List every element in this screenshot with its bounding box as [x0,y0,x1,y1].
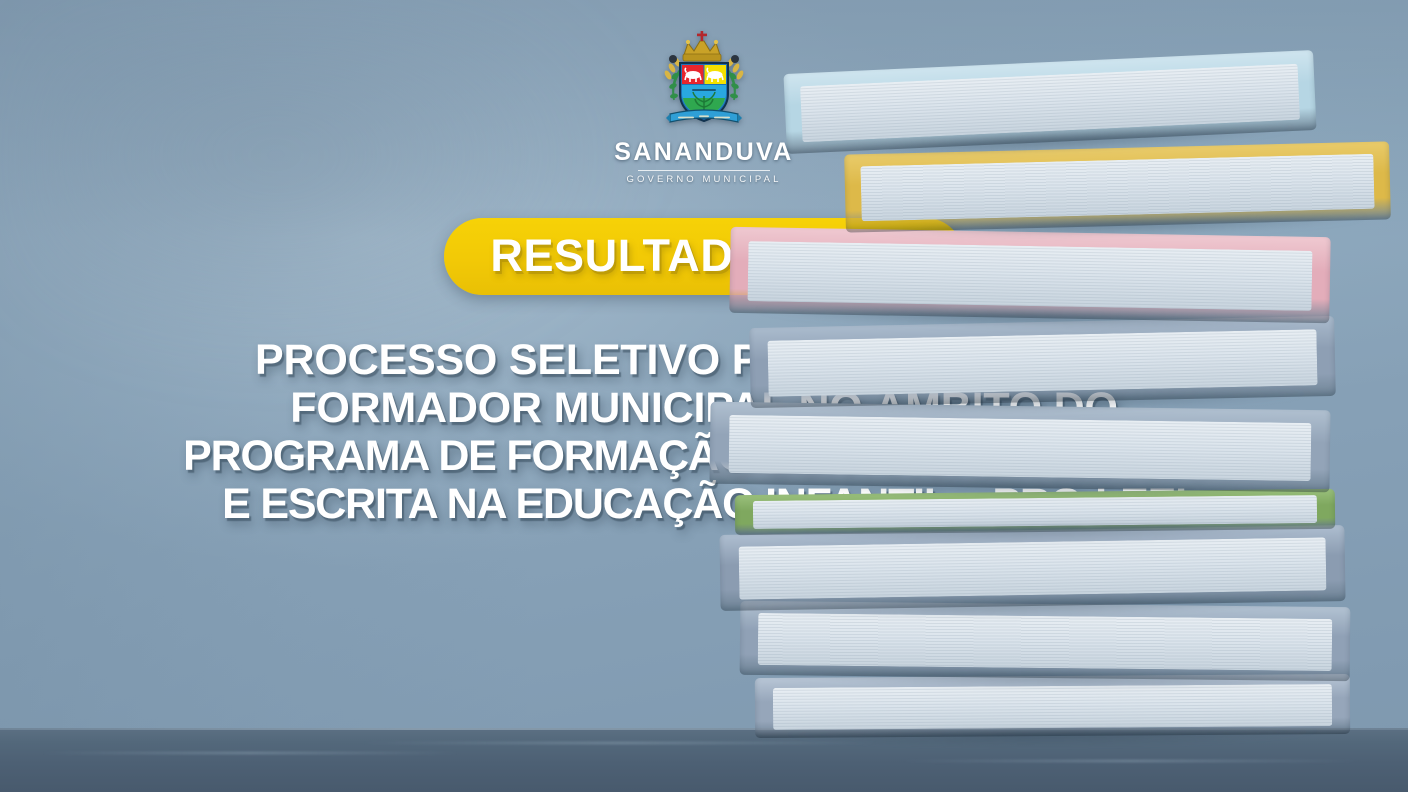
banner-canvas: SANANDUVA GOVERNO MUNICIPAL RESULTADO FI… [0,0,1408,792]
book-drop-shadow [779,729,1326,747]
book-pages [728,415,1312,481]
book-pink [729,227,1330,323]
table-reflection-streak [40,752,460,754]
book-pages [758,613,1332,671]
book-pages [748,241,1313,311]
sananduva-coat-of-arms-icon [658,28,750,134]
book-pages [767,329,1318,397]
book-pages [773,684,1333,730]
book-stack [690,0,1408,792]
book-pages [738,538,1326,600]
brand-name: SANANDUVA [614,140,793,165]
brand-subtitle: GOVERNO MUNICIPAL [627,175,782,185]
brand-divider [638,170,770,171]
